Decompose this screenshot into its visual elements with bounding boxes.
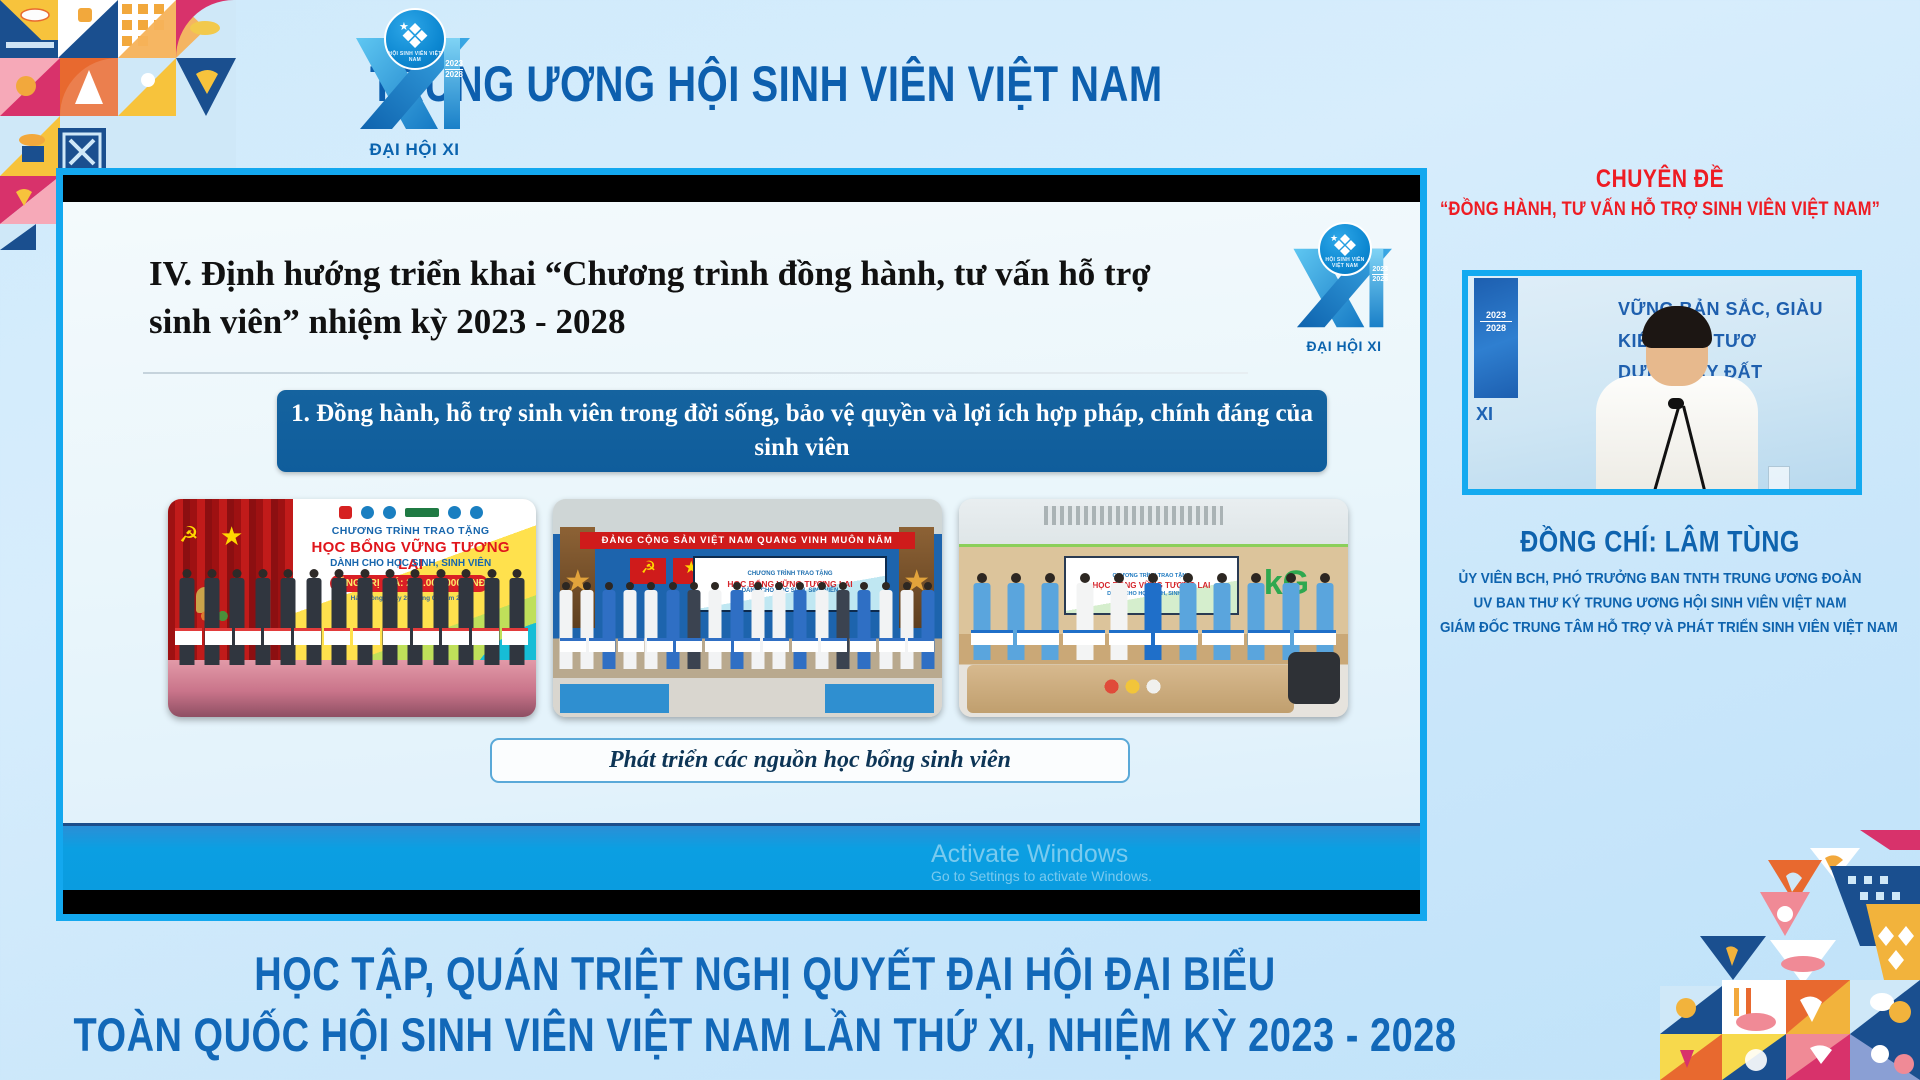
letterbox-top — [63, 175, 1420, 202]
slide-photo-1: ☭ ★ CHƯƠNG TRÌNH TRAO TẶNG HỌC BỔNG VỮNG… — [168, 499, 536, 717]
slide-congress-label: ĐẠI HỘI XI — [1290, 338, 1398, 354]
congress-label: ĐẠI HỘI XI — [352, 140, 477, 160]
photo3-certificates — [971, 630, 1337, 645]
presentation-slide-frame[interactable]: ★ ❖ HỘI SINH VIÊN VIỆT NAM 2023 2028 ĐẠI… — [56, 168, 1427, 921]
year-from: 2023 — [445, 60, 463, 68]
congress-logo: ★ ❖ HỘI SINH VIÊN VIỆT NAM 2023 — [352, 8, 477, 158]
photo1-star-icon: ★ — [220, 521, 243, 552]
footer-line-2: TOÀN QUỐC HỘI SINH VIÊN VIỆT NAM LẦN THỨ… — [0, 1010, 1530, 1064]
topic-label: CHUYÊN ĐỀ — [1440, 166, 1880, 195]
slide-photo-2: ★ ★ ĐẢNG CỘNG SẢN VIỆT NAM QUANG VINH MU… — [553, 499, 942, 717]
photo2-certificates — [560, 638, 934, 652]
emblem-ring-text: HỘI SINH VIÊN VIỆT NAM — [386, 51, 444, 63]
slide-caption-box: Phát triển các nguồn học bổng sinh viên — [490, 738, 1130, 783]
slide-hsv-emblem-icon: ★ ❖ HỘI SINH VIÊN VIỆT NAM — [1318, 222, 1372, 276]
speaker-role-1: ỦY VIÊN BCH, PHÓ TRƯỞNG BAN TNTH TRUNG Ư… — [1440, 566, 1880, 590]
slide-heading: IV. Định hướng triển khai “Chương trình … — [149, 250, 1209, 347]
photo1-people — [175, 569, 528, 665]
video-year-from: 2023 — [1486, 310, 1506, 320]
slide-caption-text: Phát triển các nguồn học bổng sinh viên — [609, 747, 1011, 774]
water-glass — [1768, 466, 1790, 495]
photo2-program-line: CHƯƠNG TRÌNH TRAO TẶNG — [695, 571, 886, 577]
slide-photo-3: CHƯƠNG TRÌNH TRAO TẶNG HỌC BỔNG VỮNG TƯƠ… — [959, 499, 1348, 717]
slide-photo-row: ☭ ★ CHƯƠNG TRÌNH TRAO TẶNG HỌC BỔNG VỮNG… — [168, 499, 1348, 717]
photo1-program-line: CHƯƠNG TRÌNH TRAO TẶNG — [300, 525, 521, 537]
speaker-body — [1596, 376, 1758, 495]
photo1-hammer-sickle-icon: ☭ — [179, 522, 199, 548]
title-divider — [143, 372, 1248, 374]
slide-subheading-text: 1. Đồng hành, hỗ trợ sinh viên trong đời… — [277, 397, 1327, 465]
footer-line-1: HỌC TẬP, QUÁN TRIỆT NGHỊ QUYẾT ĐẠI HỘI Đ… — [0, 949, 1530, 1003]
slide-emblem-ring-text: HỘI SINH VIÊN VIỆT NAM — [1320, 257, 1370, 269]
photo1-certificates — [175, 628, 528, 645]
speaker-role-2: UV BAN THƯ KÝ TRUNG ƯƠNG HỘI SINH VIÊN V… — [1440, 591, 1880, 615]
congress-years: 2023 2028 — [445, 60, 463, 80]
slide-content: ★ ❖ HỘI SINH VIÊN VIỆT NAM 2023 2028 ĐẠI… — [63, 202, 1420, 890]
topic-title: “ĐỒNG HÀNH, TƯ VẤN HỖ TRỢ SINH VIÊN VIỆT… — [1440, 198, 1880, 221]
footer-title: HỌC TẬP, QUÁN TRIỆT NGHỊ QUYẾT ĐẠI HỘI Đ… — [0, 954, 1530, 1058]
video-standee: 2023 2028 — [1474, 278, 1518, 398]
video-standee-years: 2023 2028 — [1474, 310, 1518, 334]
slide-bottom-band: Activate Windows Go to Settings to activ… — [63, 823, 1420, 890]
photo1-audience-line: DÀNH CHO HỌC SINH, SINH VIÊN — [300, 558, 521, 569]
speaker-video-feed[interactable]: 2023 2028 XI VỮNG BẢN SẮC, GIÀU KIẾN TẠO… — [1462, 270, 1862, 495]
slide-congress-logo: ★ ❖ HỘI SINH VIÊN VIỆT NAM 2023 2028 ĐẠI… — [1290, 222, 1398, 354]
decorative-mosaic-bottom-right — [1660, 830, 1920, 1080]
year-to: 2028 — [445, 71, 463, 79]
photo2-table-right — [825, 684, 934, 712]
page-title: TRUNG ƯƠNG HỘI SINH VIÊN VIỆT NAM — [370, 57, 1163, 113]
speaker-roles: ỦY VIÊN BCH, PHÓ TRƯỞNG BAN TNTH TRUNG Ư… — [1440, 566, 1880, 639]
photo3-vent — [1044, 506, 1223, 526]
photo3-flowers — [1099, 678, 1169, 695]
photo1-stage — [168, 660, 536, 717]
microphone-head-icon — [1668, 398, 1684, 409]
emblem-flame-icon: ❖ — [400, 20, 430, 54]
page-header: ★ ❖ HỘI SINH VIÊN VIỆT NAM 2023 — [0, 0, 1920, 170]
slide-year-to: 2028 — [1372, 276, 1388, 283]
speaker-info: ĐỒNG CHÍ: LÂM TÙNG ỦY VIÊN BCH, PHÓ TRƯỞ… — [1440, 528, 1880, 636]
photo1-sponsor-logos — [300, 506, 521, 519]
video-year-to: 2028 — [1486, 323, 1506, 333]
topic-block: CHUYÊN ĐỀ “ĐỒNG HÀNH, TƯ VẤN HỖ TRỢ SINH… — [1440, 168, 1880, 219]
video-xi-label: XI — [1476, 404, 1493, 425]
hsv-emblem-icon: ★ ❖ HỘI SINH VIÊN VIỆT NAM — [384, 8, 446, 70]
slide-subheading-banner: 1. Đồng hành, hỗ trợ sinh viên trong đời… — [277, 390, 1327, 472]
speaker-role-3: GIÁM ĐỐC TRUNG TÂM HỖ TRỢ VÀ PHÁT TRIỂN … — [1440, 615, 1880, 639]
slide-congress-years: 2023 2028 — [1372, 266, 1388, 284]
watermark-line-2: Go to Settings to activate Windows. — [931, 868, 1152, 884]
slide-year-from: 2023 — [1372, 266, 1388, 273]
photo3-people — [967, 573, 1341, 660]
photo2-party-flag — [630, 558, 666, 584]
photo2-crowd — [557, 582, 938, 669]
speaker-name: ĐỒNG CHÍ: LÂM TÙNG — [1440, 525, 1880, 559]
photo2-red-banner: ĐẢNG CỘNG SẢN VIỆT NAM QUANG VINH MUÔN N… — [580, 532, 915, 549]
windows-activation-watermark: Activate Windows Go to Settings to activ… — [931, 841, 1152, 885]
watermark-line-1: Activate Windows — [931, 841, 1152, 869]
right-panel: CHUYÊN ĐỀ “ĐỒNG HÀNH, TƯ VẤN HỖ TRỢ SINH… — [1440, 168, 1880, 219]
photo3-chair — [1288, 652, 1340, 704]
photo2-table-left — [560, 684, 669, 712]
